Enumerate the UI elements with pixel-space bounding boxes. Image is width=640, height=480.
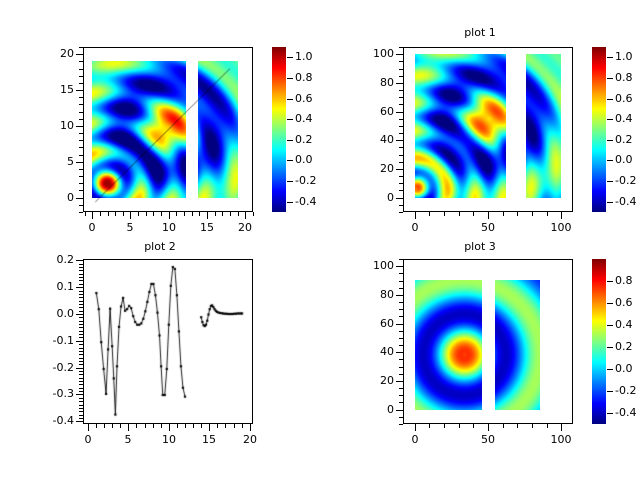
- panel-bottom-left-xticklabel: 0: [68, 434, 108, 445]
- panel-top-left: 0510152005101520-0.4-0.20.00.20.40.60.81…: [0, 0, 320, 240]
- panel-top-left-ytick-minor: [79, 47, 83, 48]
- panel-bottom-left-xtick-minor: [161, 424, 162, 428]
- panel-bottom-left-ytick-major: [76, 287, 83, 288]
- panel-bottom-right-ytick-minor: [399, 302, 403, 303]
- panel-bottom-right-yticklabel: 0: [358, 404, 394, 415]
- panel-bottom-right-ytick-minor: [399, 374, 403, 375]
- panel-bottom-left-ytick-major: [76, 314, 83, 315]
- panel-bottom-left-ytick-minor: [79, 317, 83, 318]
- panel-bottom-right-yticklabel: 40: [358, 346, 394, 357]
- panel-bottom-right-ytick-minor: [399, 273, 403, 274]
- panel-bottom-left-ytick-major: [76, 421, 83, 422]
- panel-bottom-right-yticklabel: 100: [358, 260, 394, 271]
- panel-bottom-left-ytick-minor: [79, 324, 83, 325]
- panel-top-right-xtick-minor: [517, 212, 518, 216]
- panel-top-right-colorbar-tick: [607, 57, 613, 58]
- panel-top-left-yticklabel: 5: [38, 156, 74, 167]
- panel-top-left-ytick-minor: [79, 133, 83, 134]
- panel-bottom-left-xtick-minor: [234, 424, 235, 428]
- panel-bottom-right-colorbar-tick: [607, 281, 613, 282]
- panel-bottom-left-ytick-minor: [79, 277, 83, 278]
- panel-top-left-xtick-minor: [85, 212, 86, 216]
- panel-top-right-xtick-minor: [459, 212, 460, 216]
- panel-bottom-left-ytick-minor: [79, 267, 83, 268]
- panel-bottom-right-yticklabel: 20: [358, 375, 394, 386]
- panel-top-right-image-0: [415, 54, 506, 198]
- panel-top-left-colorbar: [272, 47, 286, 212]
- panel-bottom-right-ytick-minor: [399, 316, 403, 317]
- panel-top-left-ytick-minor: [79, 183, 83, 184]
- panel-top-right-xtick-minor: [444, 212, 445, 216]
- panel-bottom-left-ytick-minor: [79, 301, 83, 302]
- panel-top-right-ytick-minor: [399, 104, 403, 105]
- panel-top-right-xtick-minor: [503, 212, 504, 216]
- panel-bottom-left-line-canvas: [84, 260, 252, 423]
- panel-bottom-left-xtick-minor: [217, 424, 218, 428]
- panel-bottom-right-ytick-minor: [399, 309, 403, 310]
- panel-bottom-left-ytick-minor: [79, 331, 83, 332]
- panel-top-left-xtick-minor: [138, 212, 139, 216]
- panel-top-left-ytick-minor: [79, 104, 83, 105]
- panel-bottom-right-yticklabel: 60: [358, 318, 394, 329]
- panel-top-right-yticklabel: 100: [358, 48, 394, 59]
- panel-top-right-colorbar-ticklabel: 1.0: [615, 51, 640, 62]
- panel-top-left-colorbar-tick: [287, 202, 293, 203]
- panel-bottom-left-xtick-minor: [242, 424, 243, 428]
- panel-top-right-colorbar-ticklabel: 0.2: [615, 134, 640, 145]
- panel-bottom-left-xticklabel: 10: [149, 434, 189, 445]
- panel-top-left-ytick-minor: [79, 61, 83, 62]
- panel-bottom-right-xticklabel: 50: [468, 434, 508, 445]
- panel-top-left-colorbar-gradient: [272, 47, 286, 212]
- panel-bottom-left-ytick-minor: [79, 351, 83, 352]
- panel-top-right-colorbar-tick: [607, 202, 613, 203]
- panel-bottom-left-ytick-minor: [79, 361, 83, 362]
- panel-bottom-left-ytick-minor: [79, 304, 83, 305]
- panel-top-left-ytick-minor: [79, 69, 83, 70]
- panel-bottom-left-ytick-minor: [79, 264, 83, 265]
- panel-top-left-xtick-minor: [199, 212, 200, 216]
- panel-bottom-left-ytick-minor: [79, 408, 83, 409]
- panel-top-left-xtick-minor: [153, 212, 154, 216]
- panel-bottom-left-xtick-major: [88, 424, 89, 431]
- panel-top-right-colorbar-tick: [607, 140, 613, 141]
- panel-bottom-left-ytick-minor: [79, 411, 83, 412]
- panel-bottom-left-ytick-minor: [79, 307, 83, 308]
- figure-canvas: 0510152005101520-0.4-0.20.00.20.40.60.81…: [0, 0, 640, 480]
- panel-top-left-colorbar-tick: [287, 181, 293, 182]
- panel-top-left-xticklabel: 5: [110, 222, 150, 233]
- panel-bottom-left-ytick-minor: [79, 327, 83, 328]
- panel-top-right-xtick-minor: [532, 212, 533, 216]
- panel-top-right-ytick-minor: [399, 76, 403, 77]
- panel-bottom-right-colorbar-ticklabel: 0.6: [615, 297, 640, 308]
- panel-bottom-left-ytick-minor: [79, 348, 83, 349]
- panel-bottom-left-yticklabel: -0.1: [38, 335, 74, 346]
- panel-bottom-right-ytick-major: [396, 352, 403, 353]
- panel-top-right-ytick-major: [396, 112, 403, 113]
- panel-top-left-xtick-minor: [108, 212, 109, 216]
- panel-bottom-left-xtick-minor: [193, 424, 194, 428]
- panel-top-right-ytick-minor: [399, 176, 403, 177]
- panel-top-right-ytick-minor: [399, 155, 403, 156]
- panel-top-left-xtick-minor: [222, 212, 223, 216]
- panel-bottom-right-yticklabel: 80: [358, 289, 394, 300]
- panel-bottom-right-colorbar-ticklabel: 0.2: [615, 341, 640, 352]
- panel-top-left-colorbar-tick: [287, 160, 293, 161]
- panel-top-right-ytick-minor: [399, 47, 403, 48]
- panel-bottom-left-xtick-minor: [153, 424, 154, 428]
- panel-bottom-left-yticklabel: 0.2: [38, 254, 74, 265]
- panel-bottom-right-ytick-major: [396, 324, 403, 325]
- panel-top-left-xtick-minor: [215, 212, 216, 216]
- panel-top-left-ytick-major: [76, 90, 83, 91]
- panel-bottom-left-ytick-major: [76, 394, 83, 395]
- panel-bottom-left-ytick-minor: [79, 371, 83, 372]
- panel-top-right-colorbar-tick: [607, 119, 613, 120]
- panel-bottom-left-ytick-minor: [79, 291, 83, 292]
- panel-top-right-colorbar-ticklabel: 0.0: [615, 154, 640, 165]
- panel-bottom-left-ytick-minor: [79, 388, 83, 389]
- panel-bottom-left-xtick-minor: [145, 424, 146, 428]
- panel-top-left-xtick-minor: [115, 212, 116, 216]
- panel-bottom-left-ytick-minor: [79, 405, 83, 406]
- panel-bottom-right-ytick-minor: [399, 402, 403, 403]
- panel-bottom-left-ytick-minor: [79, 284, 83, 285]
- panel-top-right-xticklabel: 0: [395, 222, 435, 233]
- panel-bottom-right-xtick-minor: [473, 424, 474, 428]
- panel-bottom-left-ytick-minor: [79, 274, 83, 275]
- panel-bottom-right-colorbar-tick: [607, 413, 613, 414]
- panel-top-right-colorbar-tick: [607, 181, 613, 182]
- panel-bottom-right-ytick-minor: [399, 331, 403, 332]
- panel-top-right-yticklabel: 60: [358, 106, 394, 117]
- panel-top-right-colorbar-ticklabel: 0.8: [615, 72, 640, 83]
- panel-top-right-colorbar-ticklabel: -0.2: [615, 175, 640, 186]
- panel-bottom-left: plot 2 05101520-0.4-0.3-0.2-0.10.00.10.2: [0, 240, 320, 480]
- panel-top-left-ytick-major: [76, 126, 83, 127]
- panel-bottom-right-xticklabel: 100: [541, 434, 581, 445]
- panel-top-right-colorbar-ticklabel: 0.6: [615, 93, 640, 104]
- panel-top-right-ytick-minor: [399, 162, 403, 163]
- panel-bottom-right-ytick-major: [396, 410, 403, 411]
- panel-top-right-ytick-minor: [399, 126, 403, 127]
- panel-top-right-ytick-major: [396, 198, 403, 199]
- panel-bottom-left-ytick-minor: [79, 270, 83, 271]
- panel-top-left-ytick-minor: [79, 169, 83, 170]
- panel-top-left-ytick-minor: [79, 176, 83, 177]
- panel-bottom-left-xtick-minor: [96, 424, 97, 428]
- panel-bottom-right-xtick-minor: [517, 424, 518, 428]
- panel-bottom-right-ytick-minor: [399, 281, 403, 282]
- panel-bottom-left-xtick-minor: [201, 424, 202, 428]
- panel-bottom-left-ytick-minor: [79, 280, 83, 281]
- panel-bottom-right-ytick-minor: [399, 388, 403, 389]
- panel-bottom-right-colorbar-ticklabel: -0.2: [615, 385, 640, 396]
- panel-top-right-ytick-minor: [399, 119, 403, 120]
- panel-bottom-left-xticklabel: 20: [230, 434, 270, 445]
- panel-bottom-left-xtick-minor: [177, 424, 178, 428]
- panel-bottom-right-image-0: [415, 280, 482, 410]
- panel-top-left-ytick-minor: [79, 205, 83, 206]
- panel-top-right-ytick-major: [396, 169, 403, 170]
- panel-bottom-left-ytick-minor: [79, 418, 83, 419]
- panel-top-left-xtick-major: [130, 212, 131, 219]
- panel-bottom-right-xtick-minor: [532, 424, 533, 428]
- panel-bottom-right-ytick-major: [396, 381, 403, 382]
- panel-top-right-ytick-minor: [399, 61, 403, 62]
- panel-bottom-left-title: plot 2: [0, 240, 320, 253]
- panel-bottom-right-xticklabel: 0: [395, 434, 435, 445]
- panel-bottom-right-colorbar-tick: [607, 325, 613, 326]
- panel-top-right-ytick-minor: [399, 97, 403, 98]
- panel-top-left-xtick-minor: [176, 212, 177, 216]
- panel-bottom-right-colorbar-ticklabel: -0.4: [615, 407, 640, 418]
- panel-bottom-right-ytick-minor: [399, 367, 403, 368]
- panel-top-left-ytick-minor: [79, 83, 83, 84]
- panel-top-left-ytick-major: [76, 162, 83, 163]
- panel-top-left-xtick-minor: [230, 212, 231, 216]
- panel-top-right-ytick-minor: [399, 190, 403, 191]
- panel-bottom-left-yticklabel: 0.1: [38, 281, 74, 292]
- panel-top-right-colorbar-tick: [607, 78, 613, 79]
- panel-top-right-ytick-minor: [399, 90, 403, 91]
- panel-top-left-ytick-minor: [79, 112, 83, 113]
- panel-bottom-left-ytick-minor: [79, 311, 83, 312]
- panel-top-left-colorbar-tick: [287, 119, 293, 120]
- panel-bottom-right-xtick-minor: [444, 424, 445, 428]
- panel-top-left-xticklabel: 15: [187, 222, 227, 233]
- panel-bottom-right-image-1: [495, 280, 540, 410]
- panel-bottom-right-xtick-minor: [503, 424, 504, 428]
- panel-bottom-right-xtick-major: [488, 424, 489, 431]
- panel-bottom-right-colorbar-tick: [607, 347, 613, 348]
- panel-bottom-left-xtick-major: [128, 424, 129, 431]
- panel-bottom-right-ytick-minor: [399, 424, 403, 425]
- panel-bottom-left-ytick-minor: [79, 321, 83, 322]
- panel-top-right-colorbar-gradient: [592, 47, 606, 212]
- panel-bottom-right-ytick-major: [396, 266, 403, 267]
- panel-top-right-xtick-minor: [473, 212, 474, 216]
- panel-top-left-colorbar-tick: [287, 57, 293, 58]
- panel-bottom-left-xtick-minor: [185, 424, 186, 428]
- panel-top-right-colorbar-ticklabel: -0.4: [615, 196, 640, 207]
- panel-top-left-xtick-major: [207, 212, 208, 219]
- panel-bottom-right-colorbar-gradient: [592, 259, 606, 424]
- panel-bottom-right: plot 3 050100020406080100-0.4-0.20.00.20…: [320, 240, 640, 480]
- panel-top-left-colorbar-tick: [287, 140, 293, 141]
- panel-bottom-right-xtick-minor: [459, 424, 460, 428]
- panel-top-left-ytick-minor: [79, 147, 83, 148]
- panel-bottom-left-ytick-minor: [79, 384, 83, 385]
- panel-top-left-ytick-minor: [79, 190, 83, 191]
- panel-top-left-colorbar-tick: [287, 99, 293, 100]
- panel-top-right-yticklabel: 80: [358, 77, 394, 88]
- panel-top-left-ytick-minor: [79, 140, 83, 141]
- panel-bottom-left-ytick-minor: [79, 337, 83, 338]
- panel-top-right-xtick-minor: [429, 212, 430, 216]
- panel-bottom-left-xticklabel: 5: [108, 434, 148, 445]
- panel-top-right-xticklabel: 50: [468, 222, 508, 233]
- panel-bottom-right-colorbar-tick: [607, 391, 613, 392]
- panel-bottom-left-ytick-minor: [79, 294, 83, 295]
- panel-top-right-ytick-minor: [399, 212, 403, 213]
- panel-top-right-xticklabel: 100: [541, 222, 581, 233]
- panel-top-left-xtick-minor: [184, 212, 185, 216]
- panel-bottom-left-ytick-minor: [79, 344, 83, 345]
- panel-top-left-xtick-minor: [146, 212, 147, 216]
- panel-bottom-left-ytick-major: [76, 260, 83, 261]
- panel-top-left-xtick-minor: [100, 212, 101, 216]
- panel-bottom-left-xtick-minor: [225, 424, 226, 428]
- panel-bottom-left-yticklabel: 0.0: [38, 308, 74, 319]
- panel-bottom-right-colorbar-ticklabel: 0.8: [615, 275, 640, 286]
- panel-top-left-colorbar-tick: [287, 78, 293, 79]
- panel-top-left-xtick-major: [169, 212, 170, 219]
- panel-bottom-left-ytick-minor: [79, 297, 83, 298]
- panel-top-right-ytick-major: [396, 83, 403, 84]
- panel-top-right-ytick-major: [396, 140, 403, 141]
- panel-bottom-right-xtick-major: [415, 424, 416, 431]
- panel-bottom-left-xtick-minor: [104, 424, 105, 428]
- panel-bottom-right-colorbar-tick: [607, 369, 613, 370]
- panel-top-left-xtick-major: [92, 212, 93, 219]
- panel-top-right-xtick-major: [415, 212, 416, 219]
- panel-top-right-colorbar-tick: [607, 99, 613, 100]
- panel-top-right-yticklabel: 20: [358, 163, 394, 174]
- panel-bottom-left-xtick-major: [209, 424, 210, 431]
- panel-top-right-ytick-minor: [399, 69, 403, 70]
- panel-bottom-left-ytick-major: [76, 341, 83, 342]
- panel-top-left-ytick-major: [76, 54, 83, 55]
- panel-top-left-yticklabel: 15: [38, 84, 74, 95]
- panel-bottom-right-xtick-major: [561, 424, 562, 431]
- panel-bottom-right-ytick-major: [396, 295, 403, 296]
- panel-top-left-annotation-line-0: [84, 48, 252, 211]
- panel-bottom-left-ytick-minor: [79, 358, 83, 359]
- panel-bottom-left-ytick-minor: [79, 378, 83, 379]
- panel-bottom-right-title: plot 3: [320, 240, 640, 253]
- panel-bottom-left-ytick-minor: [79, 364, 83, 365]
- panel-bottom-left-ytick-minor: [79, 415, 83, 416]
- panel-top-left-xticklabel: 0: [72, 222, 112, 233]
- panel-bottom-right-ytick-minor: [399, 259, 403, 260]
- panel-top-left-xtick-minor: [253, 212, 254, 216]
- panel-top-right-colorbar: [592, 47, 606, 212]
- panel-top-left-xtick-minor: [238, 212, 239, 216]
- panel-top-left-xtick-minor: [123, 212, 124, 216]
- panel-bottom-right-colorbar: [592, 259, 606, 424]
- panel-top-left-ytick-major: [76, 198, 83, 199]
- panel-bottom-left-ytick-minor: [79, 401, 83, 402]
- panel-top-left-ytick-minor: [79, 212, 83, 213]
- panel-bottom-left-xticklabel: 15: [189, 434, 229, 445]
- panel-bottom-left-ytick-minor: [79, 354, 83, 355]
- panel-bottom-right-colorbar-tick: [607, 303, 613, 304]
- panel-bottom-left-ytick-minor: [79, 374, 83, 375]
- panel-top-right-yticklabel: 0: [358, 192, 394, 203]
- panel-bottom-left-xtick-major: [250, 424, 251, 431]
- panel-bottom-right-xtick-minor: [547, 424, 548, 428]
- panel-top-right-xtick-major: [561, 212, 562, 219]
- panel-top-right-ytick-minor: [399, 205, 403, 206]
- panel-top-right-ytick-minor: [399, 147, 403, 148]
- panel-top-right-xtick-major: [488, 212, 489, 219]
- panel-top-left-ytick-minor: [79, 155, 83, 156]
- panel-top-left-ytick-minor: [79, 76, 83, 77]
- panel-bottom-left-ytick-minor: [79, 398, 83, 399]
- panel-top-left-yticklabel: 10: [38, 120, 74, 131]
- panel-bottom-left-yticklabel: -0.2: [38, 362, 74, 373]
- panel-bottom-left-yticklabel: -0.4: [38, 415, 74, 426]
- panel-top-right-yticklabel: 40: [358, 134, 394, 145]
- panel-top-right-title: plot 1: [320, 26, 640, 39]
- panel-bottom-right-ytick-minor: [399, 417, 403, 418]
- panel-top-left-ytick-minor: [79, 97, 83, 98]
- panel-bottom-left-ytick-minor: [79, 334, 83, 335]
- panel-bottom-left-yticklabel: -0.3: [38, 388, 74, 399]
- panel-top-left-yticklabel: 20: [38, 48, 74, 59]
- panel-top-left-xtick-major: [245, 212, 246, 219]
- panel-bottom-left-ytick-minor: [79, 381, 83, 382]
- panel-top-right-image-1: [526, 54, 561, 198]
- panel-top-left-ytick-minor: [79, 119, 83, 120]
- panel-bottom-left-ytick-major: [76, 368, 83, 369]
- panel-top-right-ytick-minor: [399, 133, 403, 134]
- panel-top-right: plot 1 050100020406080100-0.4-0.20.00.20…: [320, 0, 640, 240]
- panel-top-left-xtick-minor: [161, 212, 162, 216]
- panel-top-right-colorbar-tick: [607, 160, 613, 161]
- panel-bottom-left-ytick-minor: [79, 391, 83, 392]
- panel-bottom-right-colorbar-ticklabel: 0.4: [615, 319, 640, 330]
- panel-bottom-right-ytick-minor: [399, 345, 403, 346]
- panel-bottom-right-ytick-minor: [399, 338, 403, 339]
- panel-top-left-xticklabel: 20: [225, 222, 265, 233]
- panel-top-right-xtick-minor: [547, 212, 548, 216]
- panel-top-left-yticklabel: 0: [38, 192, 74, 203]
- panel-bottom-right-colorbar-ticklabel: 0.0: [615, 363, 640, 374]
- panel-bottom-left-xtick-minor: [120, 424, 121, 428]
- panel-bottom-right-xtick-minor: [429, 424, 430, 428]
- panel-bottom-right-ytick-minor: [399, 359, 403, 360]
- panel-top-right-ytick-minor: [399, 183, 403, 184]
- panel-top-right-ytick-major: [396, 54, 403, 55]
- panel-bottom-left-xtick-major: [169, 424, 170, 431]
- panel-top-left-xtick-minor: [192, 212, 193, 216]
- panel-top-right-colorbar-ticklabel: 0.4: [615, 113, 640, 124]
- panel-bottom-right-ytick-minor: [399, 288, 403, 289]
- panel-top-left-xticklabel: 10: [149, 222, 189, 233]
- panel-bottom-right-ytick-minor: [399, 395, 403, 396]
- panel-bottom-left-xtick-minor: [136, 424, 137, 428]
- panel-bottom-left-xtick-minor: [112, 424, 113, 428]
